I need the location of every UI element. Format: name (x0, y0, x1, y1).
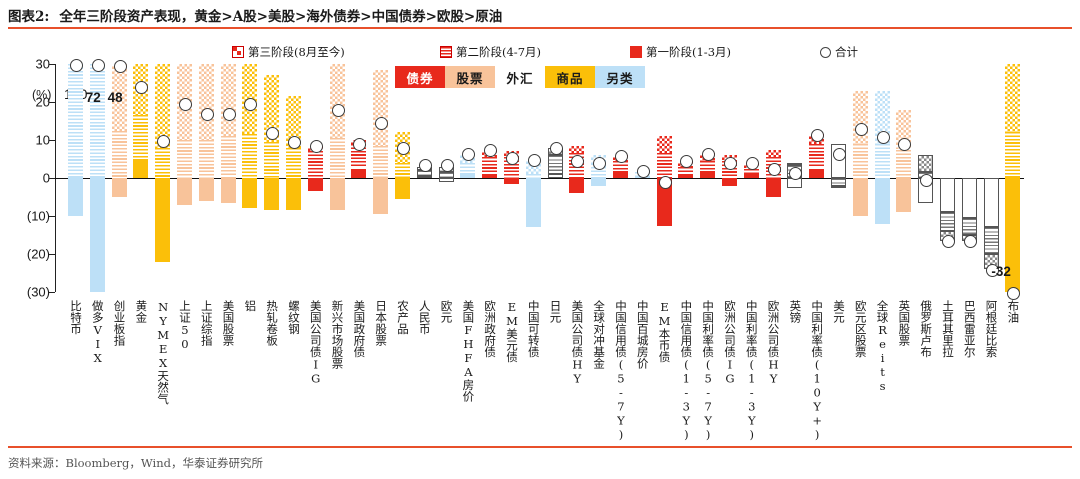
total-marker (1007, 287, 1020, 300)
total-marker (855, 123, 868, 136)
bar-segment (962, 178, 977, 218)
x-axis-label: 中国利率债(5-7Y) (701, 300, 713, 442)
bar-segment (875, 144, 890, 178)
bar-segment (112, 178, 127, 197)
x-axis-label: 美国公司债HY (570, 300, 582, 386)
x-axis-label: EM本币债 (658, 300, 670, 363)
x-axis-label: 欧洲公司债HY (767, 300, 779, 386)
total-marker (506, 152, 519, 165)
x-axis-label: 中国信用债(5-7Y) (614, 300, 626, 442)
x-axis-label: 英镑 (788, 300, 800, 323)
x-axis-label: 中国百城房价 (636, 300, 648, 369)
bar-segment (177, 140, 192, 178)
overflow-label: 48 (108, 90, 123, 105)
source-note: 资料来源：Bloomberg，Wind，华泰证券研究所 (8, 455, 263, 471)
x-axis-labels: 比特币做多VIX创业板指黄金NYMEX天然气上证50上证综指美国股票铝热轧卷板螺… (0, 300, 1080, 440)
bar-segment (373, 70, 388, 146)
y-tick-label-5: (20) (6, 247, 50, 262)
bar-segment (68, 178, 83, 216)
x-axis-label: 美国政府债 (352, 300, 364, 358)
x-axis-label: 美国FHFA房价 (461, 300, 473, 402)
bar-segment (482, 174, 497, 178)
bar-segment (548, 155, 563, 174)
bar-segment (242, 178, 257, 208)
total-marker (70, 59, 83, 72)
bar-segment (482, 157, 497, 174)
bar-segment (90, 178, 105, 292)
total-marker (157, 135, 170, 148)
bar-segment (809, 144, 824, 169)
x-axis-label: 阿根廷比索 (985, 300, 997, 358)
bar-segment (439, 178, 454, 182)
bar-segment (548, 174, 563, 178)
x-axis-label: 欧元区股票 (854, 300, 866, 358)
bar-segment (330, 64, 345, 138)
bar-segment (264, 142, 279, 178)
x-axis-label: 上证综指 (200, 300, 212, 346)
chart-page: 图表2: 全年三阶段资产表现，黄金>A股>美股>海外债券>中国债券>欧股>原油 … (0, 0, 1080, 479)
bar-segment (526, 178, 541, 227)
bar-segment (460, 174, 475, 178)
overflow-label: 72 (86, 90, 101, 105)
bar-segment (199, 140, 214, 178)
bar-segment (744, 174, 759, 178)
x-axis-label: 巴西雷亚尔 (963, 300, 975, 358)
y-tick-mark-4 (49, 216, 55, 217)
total-marker (114, 60, 127, 73)
total-marker (942, 235, 955, 248)
bar-segment (613, 172, 628, 178)
bar-segment (155, 178, 170, 262)
x-axis-label: 土耳其里拉 (941, 300, 953, 358)
figure-tag: 图表2: (8, 5, 49, 25)
total-marker (811, 129, 824, 142)
total-marker (637, 165, 650, 178)
y-tick-label-4: (10) (6, 209, 50, 224)
bar-segment (504, 178, 519, 184)
bar-segment (678, 174, 693, 178)
bar-segment (373, 178, 388, 214)
overflow-label: -32 (991, 264, 1011, 279)
total-marker (964, 235, 977, 248)
bar-segment (569, 146, 584, 154)
y-tick-label-1: 20 (6, 95, 50, 110)
x-axis-label: 新兴市场股票 (331, 300, 343, 369)
bar-segment (853, 178, 868, 216)
bar-segment (569, 178, 584, 193)
bar-segment (264, 178, 279, 210)
bar-segment (700, 172, 715, 178)
x-axis-label: 做多VIX (91, 300, 103, 365)
bar-segment (657, 153, 672, 178)
bar-segment (90, 64, 105, 178)
x-axis-label: 美国公司债IG (309, 300, 321, 386)
y-tick-mark-1 (49, 102, 55, 103)
x-axis-label: 美元 (832, 300, 844, 323)
bar-segment (896, 150, 911, 179)
x-axis-label: 布油 (1006, 300, 1018, 323)
x-axis-label: 比特币 (69, 300, 81, 335)
total-marker (419, 159, 432, 172)
plot-area: (%) 160 3020100(10)(20)(30) 7248-32 (0, 52, 1080, 297)
y-tick-label-3: 0 (6, 171, 50, 186)
bar-segment (831, 186, 846, 188)
bar-segment (221, 136, 236, 178)
chart-header: 图表2: 全年三阶段资产表现，黄金>A股>美股>海外债券>中国债券>欧股>原油 (8, 4, 1072, 26)
x-axis-label: 农产品 (396, 300, 408, 335)
bar-segment (940, 178, 955, 212)
x-axis-label: 英国股票 (897, 300, 909, 346)
bar-segment (308, 178, 323, 191)
bar-segment (962, 218, 977, 235)
bar-segment (984, 227, 999, 254)
x-axis-label: 全球对冲基金 (592, 300, 604, 369)
x-axis-label: 中国信用债(1-3Y) (679, 300, 691, 442)
x-axis-label: 全球Reits (876, 300, 888, 393)
bar-segment (373, 146, 388, 178)
total-marker (550, 142, 563, 155)
bar-segment (330, 178, 345, 210)
y-tick-label-6: (30) (6, 285, 50, 300)
bar-segment (133, 161, 148, 178)
bar-segment (417, 176, 432, 178)
bar-segment (460, 163, 475, 174)
bar-segment (722, 178, 737, 186)
y-tick-mark-6 (49, 292, 55, 293)
bar-segment (395, 163, 410, 178)
bar-segment (875, 178, 890, 224)
x-axis-label: 中国利率债(1-3Y) (745, 300, 757, 442)
x-axis-label: 美国股票 (222, 300, 234, 346)
bar-segment (657, 136, 672, 153)
bar-segment (286, 178, 301, 210)
total-marker (397, 142, 410, 155)
x-axis-label: 螺纹钢 (287, 300, 299, 335)
bar-segment (68, 64, 83, 178)
bar-segment (199, 64, 214, 140)
total-marker (528, 154, 541, 167)
total-marker (833, 148, 846, 161)
x-axis-label: 黄金 (134, 300, 146, 323)
x-axis-label: 热轧卷板 (265, 300, 277, 346)
bar-segment (853, 144, 868, 178)
y-tick-mark-5 (49, 254, 55, 255)
bar-segment (199, 178, 214, 201)
total-marker (223, 108, 236, 121)
bar-segment (177, 178, 192, 205)
bar-segment (984, 178, 999, 227)
bar-segment (940, 212, 955, 231)
bar-segment (221, 178, 236, 203)
x-axis-label: 日本股票 (374, 300, 386, 346)
bar-segment (896, 178, 911, 212)
bar-segment (330, 138, 345, 178)
header-divider (8, 27, 1072, 29)
bar-segment (242, 134, 257, 178)
footer-divider (8, 446, 1072, 448)
bar-segment (787, 163, 802, 165)
total-marker (92, 59, 105, 72)
bar-segment (591, 178, 606, 186)
bar-segment (221, 64, 236, 136)
bar-segment (1005, 64, 1020, 132)
x-axis-label: EM美元债 (505, 300, 517, 363)
x-axis-label: 中国利率债(10Y+) (810, 300, 822, 442)
x-axis-label: 俄罗斯卢布 (919, 300, 931, 358)
total-marker (615, 150, 628, 163)
x-axis-label: 创业板指 (113, 300, 125, 346)
x-axis-label: 中国可转债 (527, 300, 539, 358)
x-axis-label: 人民币 (418, 300, 430, 335)
bar-segment (395, 178, 410, 199)
x-axis-label: NYMEX天然气 (156, 300, 168, 405)
bar-segment (831, 178, 846, 186)
total-marker (310, 140, 323, 153)
page-title: 全年三阶段资产表现，黄金>A股>美股>海外债券>中国债券>欧股>原油 (59, 5, 502, 25)
total-marker (877, 131, 890, 144)
bar-segment (526, 174, 541, 178)
total-marker (332, 104, 345, 117)
x-axis-label: 欧洲政府债 (483, 300, 495, 358)
y-tick-label-2: 10 (6, 133, 50, 148)
y-tick-mark-0 (49, 64, 55, 65)
y-tick-mark-2 (49, 140, 55, 141)
total-marker (768, 163, 781, 176)
total-marker (659, 176, 672, 189)
y-tick-label-0: 30 (6, 57, 50, 72)
bar-segment (133, 115, 148, 161)
bar-segment (439, 172, 454, 178)
x-axis-label: 上证50 (178, 300, 190, 351)
bar-segment (809, 169, 824, 179)
bar-segment (351, 169, 366, 179)
total-marker (201, 108, 214, 121)
bar-segment (112, 131, 127, 179)
bar-segment (766, 178, 781, 197)
x-axis-label: 欧元 (440, 300, 452, 323)
total-marker (266, 127, 279, 140)
bar-segment (918, 155, 933, 172)
bar-segment (700, 161, 715, 172)
bar-segment (286, 148, 301, 178)
total-marker (702, 148, 715, 161)
bar-segment (308, 151, 323, 178)
bar-segment (766, 150, 781, 158)
x-axis-label: 欧洲公司债IG (723, 300, 735, 386)
bar-segment (155, 148, 170, 178)
x-axis-label: 日元 (549, 300, 561, 323)
x-axis-label: 铝 (243, 300, 255, 312)
total-marker (441, 159, 454, 172)
bar-segment (1005, 132, 1020, 178)
